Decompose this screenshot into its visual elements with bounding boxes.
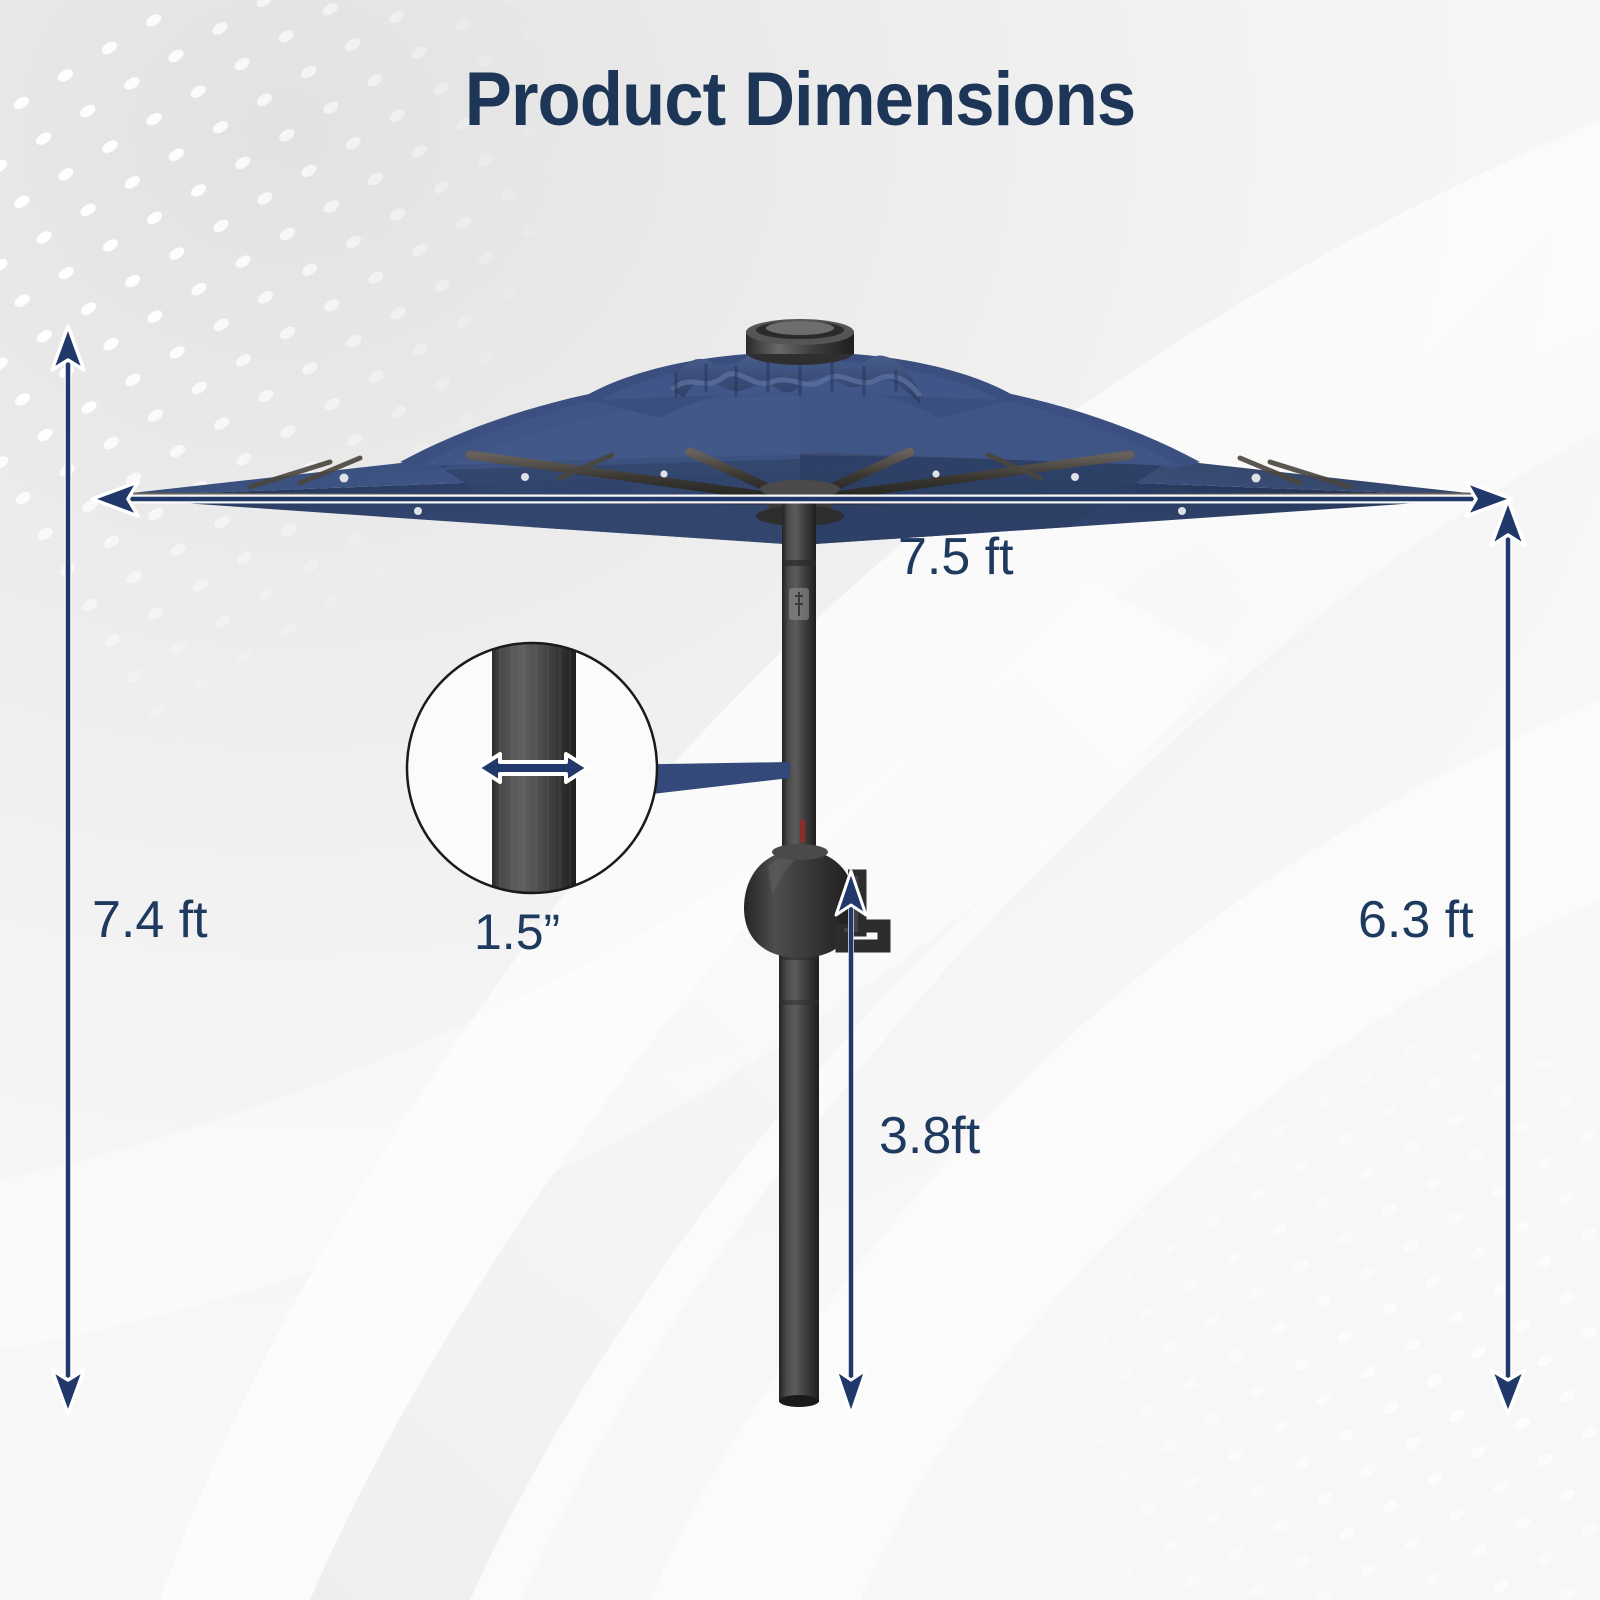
dimension-label-crank-height: 3.8ft: [879, 1106, 980, 1166]
dimension-label-overall-height: 7.4 ft: [92, 890, 208, 950]
dimension-label-canopy-width: 7.5 ft: [898, 527, 1014, 587]
product-dimensions-infographic: Product Dimensions: [0, 0, 1600, 1600]
dimension-label-canopy-height: 6.3 ft: [1358, 890, 1474, 950]
page-title: Product Dimensions: [56, 56, 1544, 143]
dimension-label-pole-diameter: 1.5”: [474, 903, 560, 961]
